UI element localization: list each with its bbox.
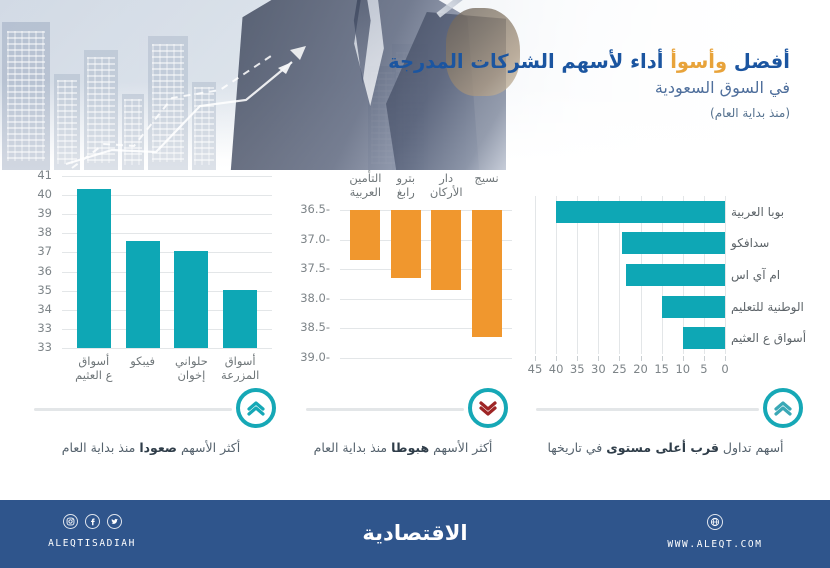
y-axis-tick: 37.5- — [292, 263, 330, 275]
bar — [350, 210, 380, 260]
caption-bold: صعودا — [139, 440, 177, 455]
bar — [556, 201, 725, 223]
x-axis-tick: 45 — [526, 364, 544, 376]
title-word-worst: وأسوأ — [670, 50, 727, 73]
bar-label: الوطنية للتعليم — [731, 301, 804, 313]
caption-text: أسهم تداول قرب أعلى مستوى في تاريخها — [528, 440, 803, 456]
bar — [662, 296, 725, 318]
y-axis-tick: 35 — [18, 285, 52, 297]
caption-prefix: أكثر الأسهم — [429, 440, 492, 455]
grid-line — [62, 176, 272, 177]
title-word-best: أفضل — [734, 50, 790, 73]
bar — [683, 327, 725, 349]
bar — [391, 210, 421, 278]
x-axis-label: أسواق المزرعة — [211, 355, 269, 382]
y-axis-tick: 34 — [18, 304, 52, 316]
y-axis-tick: 36.5- — [292, 204, 330, 216]
bar — [223, 290, 257, 348]
bar-label: ام آي اس — [731, 269, 780, 281]
skyline-building — [2, 22, 50, 170]
bar-label: سدافكو — [731, 237, 769, 249]
x-axis-tickmark — [725, 356, 726, 361]
y-axis-tick: 41 — [18, 170, 52, 182]
bar-label: بوبا العربية — [731, 206, 784, 218]
ascending-arrow-sketch — [60, 40, 400, 170]
x-axis-tickmark — [619, 356, 620, 361]
y-axis-tick: 39.0- — [292, 352, 330, 364]
x-axis-tickmark — [641, 356, 642, 361]
grid-line — [62, 348, 272, 349]
caption-suffix: منذ بداية العام — [314, 440, 392, 455]
grid-line — [340, 358, 512, 359]
y-axis-tick: 37 — [18, 246, 52, 258]
x-axis-tickmark — [556, 356, 557, 361]
x-axis-tickmark — [662, 356, 663, 361]
caption-bold: هبوطا — [391, 440, 429, 455]
footer-website-block: WWW.ALEQT.COM — [620, 514, 810, 550]
double-chevron-down-icon[interactable] — [468, 388, 508, 428]
bar — [622, 232, 725, 254]
caption-rule — [34, 408, 232, 411]
double-chevron-up-icon[interactable] — [236, 388, 276, 428]
x-axis-tickmark — [535, 356, 536, 361]
caption-prefix: أكثر الأسهم — [177, 440, 240, 455]
y-axis-tick: 38 — [18, 227, 52, 239]
y-axis-tick: 37.0- — [292, 234, 330, 246]
caption-rule — [536, 408, 759, 411]
y-axis-tick: 38.5- — [292, 322, 330, 334]
y-axis-tick: 33 — [18, 342, 52, 354]
x-axis-tick: 0 — [716, 364, 734, 376]
x-axis-tick: 25 — [610, 364, 628, 376]
caption-suffix: في تاريخها — [547, 440, 606, 455]
bar — [77, 189, 111, 348]
x-axis-tickmark — [598, 356, 599, 361]
x-axis-tickmark — [704, 356, 705, 361]
y-axis-tick: 33 — [18, 323, 52, 335]
x-axis-tick: 5 — [695, 364, 713, 376]
x-axis-label: نسيج — [460, 172, 514, 186]
footer-website: WWW.ALEQT.COM — [620, 539, 810, 550]
caption-rule — [306, 408, 464, 411]
caption-prefix: أسهم تداول — [719, 440, 784, 455]
page-title: أفضل وأسوأ أداء لأسهم الشركات المدرجة — [390, 50, 790, 74]
title-block: أفضل وأسوأ أداء لأسهم الشركات المدرجة في… — [390, 50, 790, 120]
x-axis-tick: 20 — [632, 364, 650, 376]
title-rest: أداء لأسهم الشركات المدرجة — [388, 50, 663, 73]
x-axis-tickmark — [683, 356, 684, 361]
page-subtitle: في السوق السعودية — [390, 78, 790, 97]
y-axis-tick: 38.0- — [292, 293, 330, 305]
x-axis-tick: 40 — [547, 364, 565, 376]
y-axis-tick: 40 — [18, 189, 52, 201]
bar — [431, 210, 461, 290]
grid-line — [725, 196, 726, 354]
x-axis-tick: 15 — [653, 364, 671, 376]
x-axis-tick: 35 — [568, 364, 586, 376]
hero-banner: أفضل وأسوأ أداء لأسهم الشركات المدرجة في… — [0, 0, 830, 170]
double-chevron-up-icon[interactable] — [763, 388, 803, 428]
footer-bar: ALEQTISADIAH الاقتصادية WWW.ALEQT.COM — [0, 500, 830, 568]
caption-text: أكثر الأسهم صعودا منذ بداية العام — [26, 440, 276, 456]
page-note: (منذ بداية العام) — [390, 106, 790, 120]
bar-label: أسواق ع العثيم — [731, 332, 806, 344]
caption-text: أكثر الأسهم هبوطا منذ بداية العام — [298, 440, 508, 456]
x-axis-tick: 10 — [674, 364, 692, 376]
bar — [126, 241, 160, 348]
x-axis-tickmark — [577, 356, 578, 361]
bar — [472, 210, 502, 337]
caption-suffix: منذ بداية العام — [62, 440, 140, 455]
bar — [626, 264, 725, 286]
grid-line — [535, 196, 536, 354]
y-axis-tick: 39 — [18, 208, 52, 220]
infographic-page: أفضل وأسوأ أداء لأسهم الشركات المدرجة في… — [0, 0, 830, 568]
y-axis-tick: 36 — [18, 266, 52, 278]
caption-bold: قرب أعلى مستوى — [606, 440, 719, 455]
x-axis-tick: 30 — [589, 364, 607, 376]
globe-icon — [707, 514, 723, 530]
bar — [174, 251, 208, 348]
